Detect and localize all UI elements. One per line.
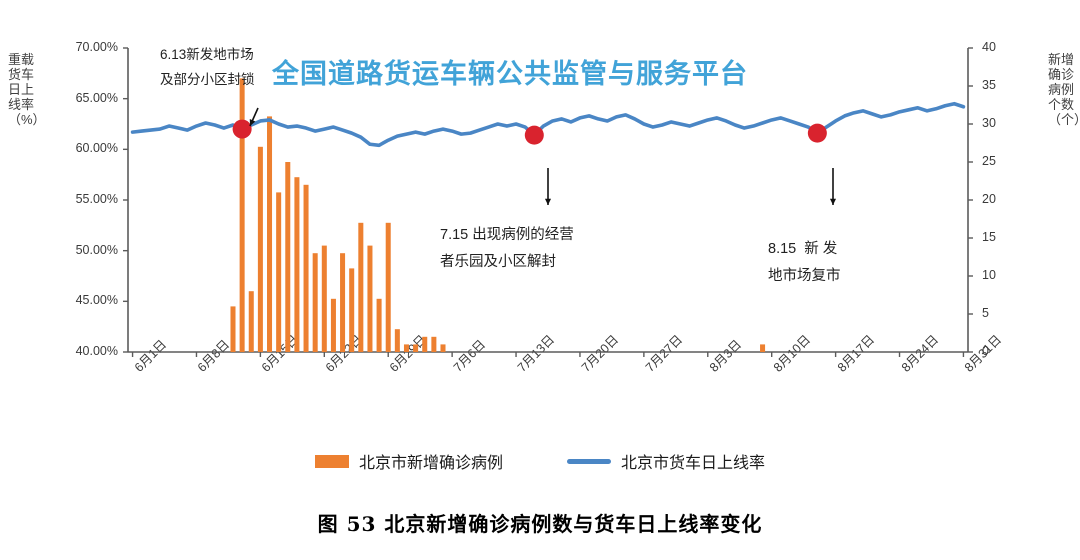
- bar-new-cases: [240, 78, 245, 352]
- bar-new-cases: [440, 344, 445, 352]
- annotation-marker-a2: [525, 126, 544, 145]
- bar-new-cases: [230, 306, 235, 352]
- bar-new-cases: [276, 192, 281, 352]
- platform-watermark-title: 全国道路货运车辆公共监管与服务平台: [272, 52, 748, 91]
- bar-new-cases: [422, 337, 427, 352]
- legend-label-online-rate: 北京市货车日上线率: [621, 449, 765, 473]
- chart-container: 重载货车日上线率（%） 新增确诊病例个数（个） 40.00%45.00%50.0…: [0, 0, 1080, 560]
- legend-swatch-bar-icon: [315, 455, 349, 468]
- annotation-8-15: 8.15 新 发 地市场复市: [768, 236, 841, 290]
- bar-new-cases: [304, 185, 309, 352]
- bar-new-cases: [340, 253, 345, 352]
- chart-legend: 北京市新增确诊病例 北京市货车日上线率: [0, 446, 1080, 476]
- bar-new-cases: [322, 246, 327, 352]
- bar-new-cases: [267, 116, 272, 352]
- legend-item-cases: 北京市新增确诊病例: [315, 449, 503, 473]
- bar-new-cases: [358, 223, 363, 352]
- legend-label-cases: 北京市新增确诊病例: [359, 449, 503, 473]
- bar-new-cases: [760, 344, 765, 352]
- bar-new-cases: [249, 291, 254, 352]
- bar-new-cases: [431, 337, 436, 352]
- annotation-marker-a1: [233, 120, 252, 139]
- bar-new-cases: [413, 344, 418, 352]
- figure-caption: 图 53 北京新增确诊病例数与货车日上线率变化: [0, 508, 1080, 537]
- annotation-6-13: 6.13新发地市场 及部分小区封锁: [160, 42, 255, 92]
- bar-new-cases: [258, 147, 263, 352]
- bar-new-cases: [395, 329, 400, 352]
- arrow-7-15-head: [545, 199, 551, 205]
- bar-new-cases: [349, 268, 354, 352]
- bar-new-cases: [404, 344, 409, 352]
- bar-new-cases: [294, 177, 299, 352]
- legend-swatch-line-icon: [567, 459, 611, 464]
- bar-new-cases: [367, 246, 372, 352]
- legend-item-online-rate: 北京市货车日上线率: [567, 449, 765, 473]
- annotation-marker-a3: [808, 124, 827, 143]
- bar-new-cases: [377, 299, 382, 352]
- annotation-7-15: 7.15 出现病例的经营 者乐园及小区解封: [440, 222, 574, 276]
- bar-new-cases: [285, 162, 290, 352]
- bar-new-cases: [313, 253, 318, 352]
- bar-new-cases: [386, 223, 391, 352]
- arrow-8-15-head: [830, 199, 836, 205]
- bar-new-cases: [331, 299, 336, 352]
